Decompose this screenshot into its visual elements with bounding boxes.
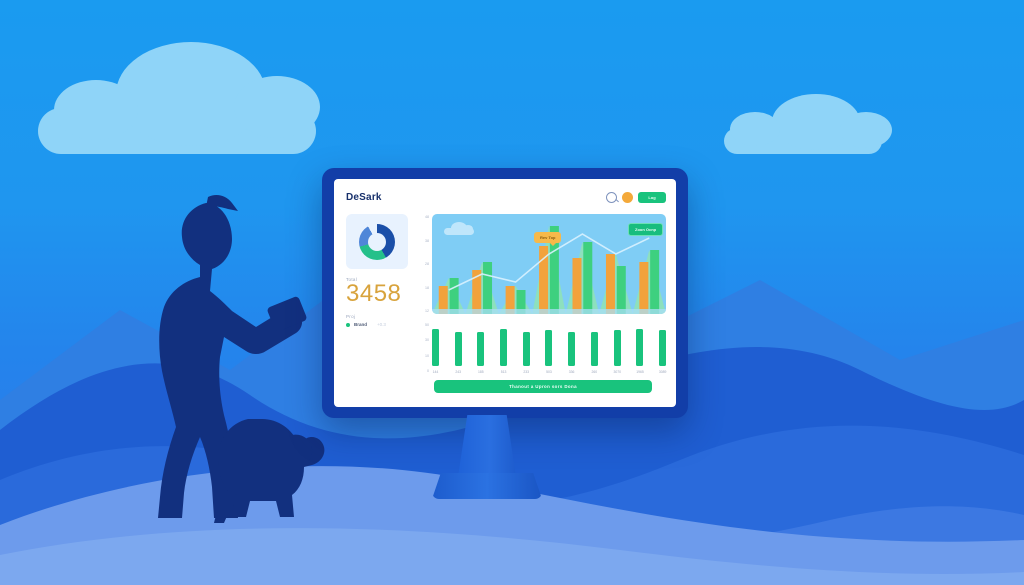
search-icon[interactable] [606,192,617,203]
donut-chart-icon [359,224,395,260]
desktop-monitor: DeSark Log Total 3458 Proj [322,168,688,418]
bar[interactable] [591,332,598,366]
legend-delta: +0.3 [377,322,386,327]
legend-row: Brand +0.3 [346,322,414,327]
x-tick: 233 [523,370,530,374]
area-chart-y-axis: 4838281812 [420,214,429,314]
bar-chart-bars [432,324,666,366]
x-tick: 503 [545,370,552,374]
bar-chart-panel[interactable]: 144243185513233503336260307019653089 [432,322,666,374]
bar[interactable] [523,332,530,366]
legend-label: Brand [354,322,367,327]
x-tick: 336 [568,370,575,374]
y-tick: 38 [420,239,429,243]
topbar-actions: Log [606,192,666,203]
bar-chart-y-axis: 5030100 [420,322,429,374]
monitor-stand-neck [458,415,516,477]
dashboard-topbar: DeSark Log [346,187,666,207]
y-tick: 10 [420,354,429,358]
y-tick: 12 [420,309,429,313]
x-tick: 1965 [636,370,643,374]
avatar[interactable] [622,192,633,203]
y-tick: 0 [420,369,429,373]
x-tick: 3070 [614,370,621,374]
illustration-scene: DeSark Log Total 3458 Proj [0,0,1024,585]
kpi-sub-caption: Proj [346,314,414,319]
bar[interactable] [500,329,507,366]
cta-button[interactable]: Log [638,192,666,203]
area-chart-panel[interactable]: Rev Top Zoon Ocnp [432,214,666,314]
bar[interactable] [659,330,666,366]
dashboard-body: Total 3458 Proj Brand +0.3 4838281812 [346,214,666,393]
bar[interactable] [568,332,575,366]
cloud-right-icon [724,128,882,154]
x-tick: 144 [432,370,439,374]
bar-chart-block: 5030100 14424318551323350333626030701965… [420,322,666,374]
x-tick: 3089 [659,370,666,374]
x-tick: 513 [500,370,507,374]
bar[interactable] [455,332,462,366]
bar[interactable] [614,330,621,366]
y-tick: 18 [420,286,429,290]
monitor-stand-base [432,473,542,499]
y-tick: 30 [420,338,429,342]
brand-logo[interactable]: DeSark [346,192,382,203]
footer-action-button[interactable]: Thanout a Upron sors Dona [434,380,652,393]
area-chart-block: 4838281812 Rev Top Zoon Ocnp [420,214,666,314]
monitor-screen: DeSark Log Total 3458 Proj [334,179,676,407]
charts-column: 4838281812 Rev Top Zoon Ocnp 5030100 [420,214,666,393]
y-tick: 48 [420,215,429,219]
cloud-left-icon [38,108,316,154]
dog-silhouette [200,405,335,523]
y-tick: 50 [420,323,429,327]
chip-zoon-ocnp[interactable]: Zoon Ocnp [628,223,663,236]
bar[interactable] [636,329,643,366]
x-tick: 260 [591,370,598,374]
chip-rev-top[interactable]: Rev Top [534,232,561,243]
x-tick: 243 [455,370,462,374]
dashboard-sidebar: Total 3458 Proj Brand +0.3 [346,214,414,393]
bar[interactable] [545,330,552,366]
dashboard-ui: DeSark Log Total 3458 Proj [334,179,676,407]
y-tick: 28 [420,262,429,266]
donut-chart-card [346,214,408,269]
x-tick: 185 [477,370,484,374]
kpi-value: 3458 [346,282,414,306]
bar[interactable] [477,332,484,366]
bar[interactable] [432,329,439,366]
bar-chart-x-axis: 144243185513233503336260307019653089 [432,370,666,374]
legend-dot-icon [346,323,350,327]
